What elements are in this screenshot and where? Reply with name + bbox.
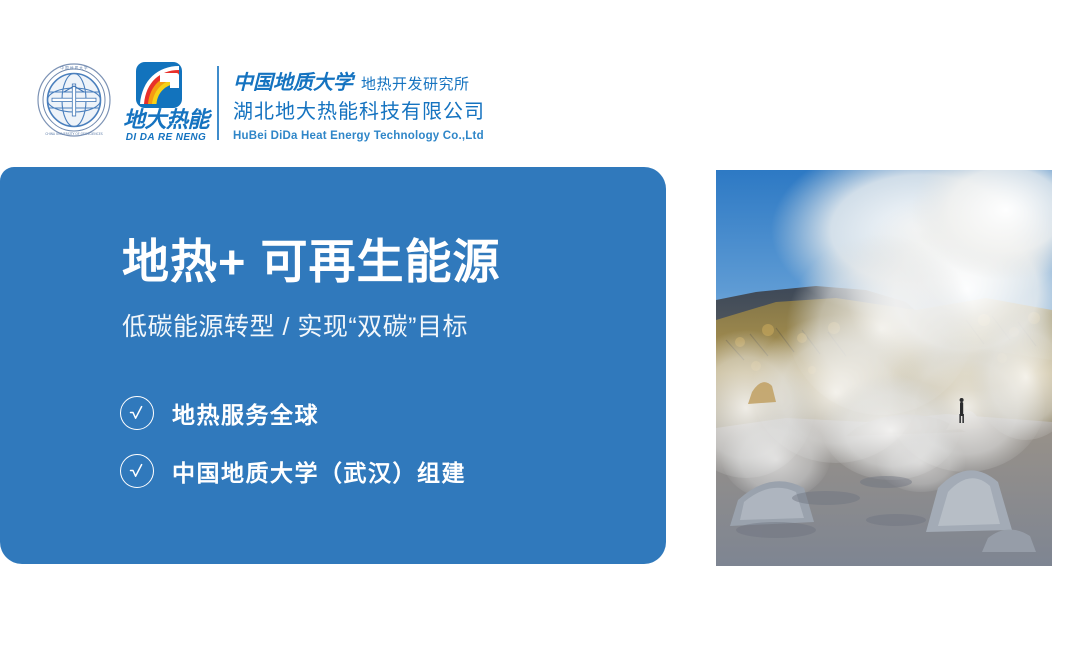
hero-bullet-item: 地热服务全球 [120, 395, 466, 431]
hero-bullet-item: 中国地质大学（武汉）组建 [120, 453, 466, 489]
geothermal-steam-field-photo [716, 170, 1052, 566]
brand-text-block: 中国地质大学 地热开发研究所 湖北地大热能科技有限公司 HuBei DiDa H… [233, 66, 533, 142]
brand-header: 中 国 地 质 大 学 CHINA UNIVERSITY OF GEOSCIEN… [0, 0, 1087, 167]
brand-divider [217, 66, 219, 140]
dida-wordmark-cn: 地大热能 [118, 108, 214, 132]
hero-title: 地热+ 可再生能源 [122, 223, 501, 292]
dida-logo: 地大热能 DI DA RE NENG [118, 62, 214, 142]
company-name-en: HuBei DiDa Heat Energy Technology Co.,Lt… [233, 130, 533, 142]
institute-name: 地热开发研究所 [361, 73, 470, 94]
svg-text:中 国 地 质 大 学: 中 国 地 质 大 学 [60, 65, 88, 70]
hero-panel: 地热+ 可再生能源 低碳能源转型 / 实现“双碳”目标 地热服务全球 中国地质大… [0, 167, 666, 564]
dida-wordmark-en: DI DA RE NENG [118, 132, 214, 143]
university-name: 中国地质大学 [233, 66, 353, 95]
hero-bullet-label: 中国地质大学（武汉）组建 [172, 454, 466, 488]
check-circle-icon [120, 396, 154, 430]
company-name-cn: 湖北地大热能科技有限公司 [233, 95, 533, 124]
dida-rainbow-square-icon [136, 62, 182, 108]
hero-bullet-label: 地热服务全球 [172, 396, 319, 430]
university-seal-icon: 中 国 地 质 大 学 CHINA UNIVERSITY OF GEOSCIEN… [36, 62, 112, 138]
check-circle-icon [120, 454, 154, 488]
hero-bullet-list: 地热服务全球 中国地质大学（武汉）组建 [120, 395, 466, 511]
hero-subtitle: 低碳能源转型 / 实现“双碳”目标 [122, 307, 468, 343]
svg-text:CHINA UNIVERSITY OF GEOSCIENCE: CHINA UNIVERSITY OF GEOSCIENCES [45, 132, 103, 136]
